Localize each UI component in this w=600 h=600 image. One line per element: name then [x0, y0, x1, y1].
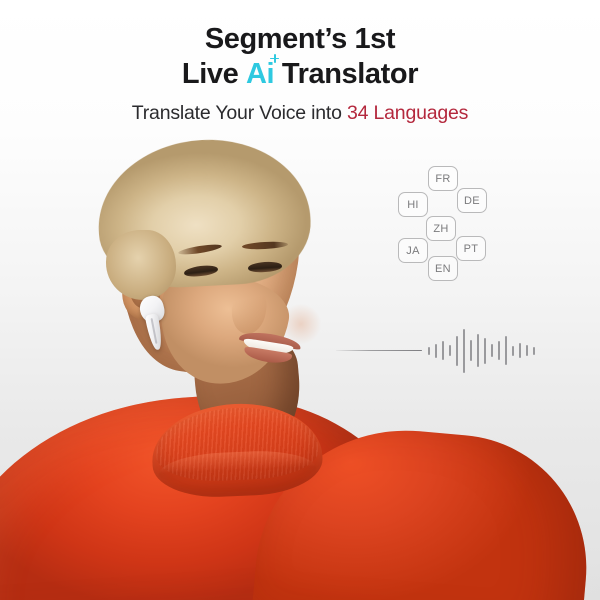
headline-line-2: Live Ai Translator	[0, 57, 600, 92]
language-badge-en[interactable]: EN	[428, 256, 458, 281]
headline-line-2-post: Translator	[274, 58, 418, 90]
waveform-bar	[484, 338, 486, 364]
ai-badge: Ai	[246, 57, 274, 92]
sparkle-icon	[270, 54, 279, 63]
waveform-bar	[512, 346, 514, 356]
hair-sideburn	[106, 230, 176, 300]
waveform-baseline	[336, 350, 422, 351]
promo-banner: FRHIDEZHJAPTEN Segment’s 1st Live Ai Tra…	[0, 0, 600, 600]
waveform-bar	[533, 347, 535, 355]
language-badge-pt[interactable]: PT	[456, 236, 486, 261]
language-count-accent: 34 Languages	[347, 102, 468, 124]
language-badge-cluster: FRHIDEZHJAPTEN	[398, 166, 502, 274]
voice-waveform	[336, 326, 514, 376]
subheadline-text: Translate Your Voice into	[132, 102, 347, 124]
headline-line-2-pre: Live	[182, 58, 246, 90]
waveform-bar	[526, 345, 528, 356]
language-badge-de[interactable]: DE	[457, 188, 487, 213]
waveform-bar	[428, 347, 430, 355]
waveform-bar	[456, 336, 458, 366]
waveform-bar	[470, 340, 472, 361]
language-badge-ja[interactable]: JA	[398, 238, 428, 263]
language-badge-hi[interactable]: HI	[398, 192, 428, 217]
waveform-bar	[498, 341, 500, 360]
headline-block: Segment’s 1st Live Ai Translator Transla…	[0, 22, 600, 126]
waveform-bar	[449, 345, 451, 356]
subheadline: Translate Your Voice into 34 Languages	[0, 101, 600, 126]
headline-line-1: Segment’s 1st	[0, 22, 600, 57]
language-badge-zh[interactable]: ZH	[426, 216, 456, 241]
waveform-bar	[519, 343, 521, 358]
waveform-bar	[491, 344, 493, 357]
waveform-bar	[435, 344, 437, 358]
language-badge-fr[interactable]: FR	[428, 166, 458, 191]
earbud	[138, 296, 172, 354]
waveform-bar	[442, 341, 444, 360]
waveform-bar	[463, 329, 465, 373]
waveform-bar	[505, 336, 507, 365]
waveform-bar	[477, 334, 479, 367]
head	[92, 138, 340, 388]
